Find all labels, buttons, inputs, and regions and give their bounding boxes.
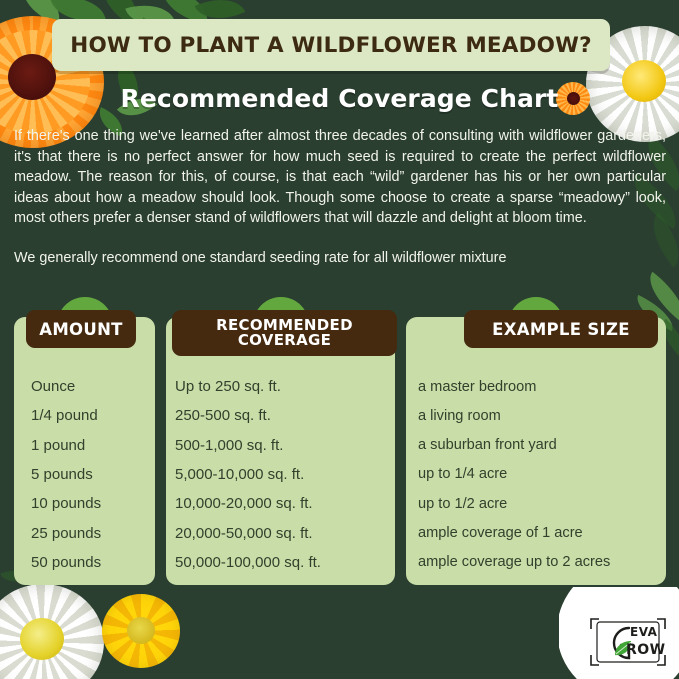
table-row: 20,000-50,000 sq. ft. bbox=[175, 518, 395, 547]
coverage-table: AMOUNT Ounce 1/4 pound 1 pound 5 pounds … bbox=[14, 310, 666, 585]
table-row: 1/4 pound bbox=[31, 401, 155, 430]
table-row: 5,000-10,000 sq. ft. bbox=[175, 460, 395, 489]
logo-mark: EVA ROW bbox=[585, 615, 671, 669]
body-copy: If there's one thing we've learned after… bbox=[14, 126, 666, 269]
table-row: Ounce bbox=[31, 372, 155, 401]
column-header-recommended-coverage: RECOMMENDED COVERAGE bbox=[172, 310, 397, 356]
flower-yellow-coreopsis bbox=[102, 594, 180, 668]
title-banner: HOW TO PLANT A WILDFLOWER MEADOW? bbox=[52, 19, 610, 71]
rows-example: a master bedroom a living room a suburba… bbox=[406, 372, 666, 577]
table-row: up to 1/2 acre bbox=[418, 489, 666, 518]
column-header-amount: AMOUNT bbox=[26, 310, 136, 348]
table-row: up to 1/4 acre bbox=[418, 460, 666, 489]
table-row: 500-1,000 sq. ft. bbox=[175, 431, 395, 460]
subtitle-row: Recommended Coverage Chart bbox=[0, 78, 679, 118]
logo-text-row: ROW bbox=[626, 642, 666, 658]
table-column-amount: AMOUNT Ounce 1/4 pound 1 pound 5 pounds … bbox=[14, 310, 155, 585]
table-row: 10,000-20,000 sq. ft. bbox=[175, 489, 395, 518]
logo-text-eva: EVA bbox=[630, 625, 657, 639]
page-subtitle: Recommended Coverage Chart bbox=[121, 84, 559, 113]
table-row: Up to 250 sq. ft. bbox=[175, 372, 395, 401]
paragraph-intro: If there's one thing we've learned after… bbox=[14, 126, 666, 229]
table-row: a living room bbox=[418, 401, 666, 430]
column-header-example-size: EXAMPLE SIZE bbox=[464, 310, 658, 348]
infographic-canvas: HOW TO PLANT A WILDFLOWER MEADOW? Recomm… bbox=[0, 0, 679, 679]
rows-coverage: Up to 250 sq. ft. 250-500 sq. ft. 500-1,… bbox=[166, 372, 395, 577]
table-row: 50,000-100,000 sq. ft. bbox=[175, 548, 395, 577]
table-row: a suburban front yard bbox=[418, 431, 666, 460]
table-row: ample coverage up to 2 acres bbox=[418, 548, 666, 577]
table-column-recommended-coverage: RECOMMENDED COVERAGE Up to 250 sq. ft. 2… bbox=[166, 310, 395, 585]
rows-amount: Ounce 1/4 pound 1 pound 5 pounds 10 poun… bbox=[14, 372, 155, 577]
table-row: 5 pounds bbox=[31, 460, 155, 489]
flower-white-daisy-bottom-left bbox=[0, 584, 104, 679]
table-row: 250-500 sq. ft. bbox=[175, 401, 395, 430]
table-row: ample coverage of 1 acre bbox=[418, 518, 666, 547]
paragraph-recommendation: We generally recommend one standard seed… bbox=[14, 248, 666, 269]
table-row: 25 pounds bbox=[31, 518, 155, 547]
table-column-example-size: EXAMPLE SIZE a master bedroom a living r… bbox=[406, 310, 666, 585]
table-row: a master bedroom bbox=[418, 372, 666, 401]
table-row: 50 pounds bbox=[31, 548, 155, 577]
page-title: HOW TO PLANT A WILDFLOWER MEADOW? bbox=[70, 33, 592, 58]
brand-logo: EVA ROW bbox=[559, 587, 679, 679]
table-row: 1 pound bbox=[31, 431, 155, 460]
table-row: 10 pounds bbox=[31, 489, 155, 518]
